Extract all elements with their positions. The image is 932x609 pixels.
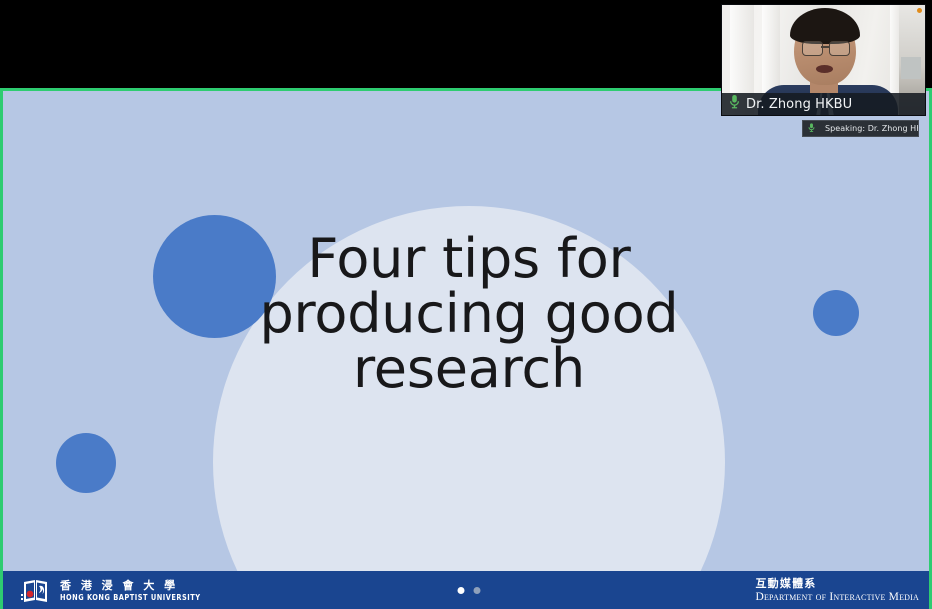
hkbu-logo-text: 香 港 浸 會 大 學 HONG KONG BAPTIST UNIVERSITY xyxy=(60,580,213,603)
speaking-microphone-icon xyxy=(808,120,815,137)
participant-mouth xyxy=(816,65,833,73)
slide-page-indicator xyxy=(458,587,481,594)
participant-glasses-bridge xyxy=(821,46,829,48)
page-dot-1[interactable] xyxy=(458,587,465,594)
slide-title: Four tips for producing good research xyxy=(3,231,932,396)
hkbu-name-en: HONG KONG BAPTIST UNIVERSITY xyxy=(60,593,201,603)
page-dot-2[interactable] xyxy=(474,587,481,594)
slide-brand-bar: 香 港 浸 會 大 學 HONG KONG BAPTIST UNIVERSITY… xyxy=(3,571,932,609)
recording-indicator-dot xyxy=(917,8,922,13)
department-logo: 互動媒體系 Department of Interactive Media xyxy=(755,577,919,605)
participant-name-label: Dr. Zhong HKBU xyxy=(746,97,852,112)
speaking-indicator-text: Speaking: Dr. Zhong HKBU ; xyxy=(825,124,919,133)
participant-hair xyxy=(790,8,860,44)
participant-video-tile[interactable]: Dr. Zhong HKBU xyxy=(721,4,926,116)
hkbu-logo: 香 港 浸 會 大 學 HONG KONG BAPTIST UNIVERSITY xyxy=(19,575,213,608)
video-background-object xyxy=(901,57,921,79)
participant-name-bar: Dr. Zhong HKBU xyxy=(722,93,925,115)
department-name-en: Department of Interactive Media xyxy=(755,590,919,604)
microphone-icon xyxy=(729,94,740,114)
participant-glasses-right xyxy=(829,41,850,56)
hkbu-name-zh: 香 港 浸 會 大 學 xyxy=(60,580,213,593)
hkbu-book-flame-logo-icon xyxy=(19,575,52,608)
speaking-indicator-toast: Speaking: Dr. Zhong HKBU ; xyxy=(802,120,919,137)
screen-share-frame: Four tips for producing good research xyxy=(0,88,932,609)
screen-root: Four tips for producing good research xyxy=(0,0,932,609)
presentation-slide: Four tips for producing good research xyxy=(3,91,932,609)
department-name-zh: 互動媒體系 xyxy=(755,577,919,590)
participant-glasses-left xyxy=(802,41,823,56)
slide-circle-decoration-left xyxy=(56,433,116,493)
